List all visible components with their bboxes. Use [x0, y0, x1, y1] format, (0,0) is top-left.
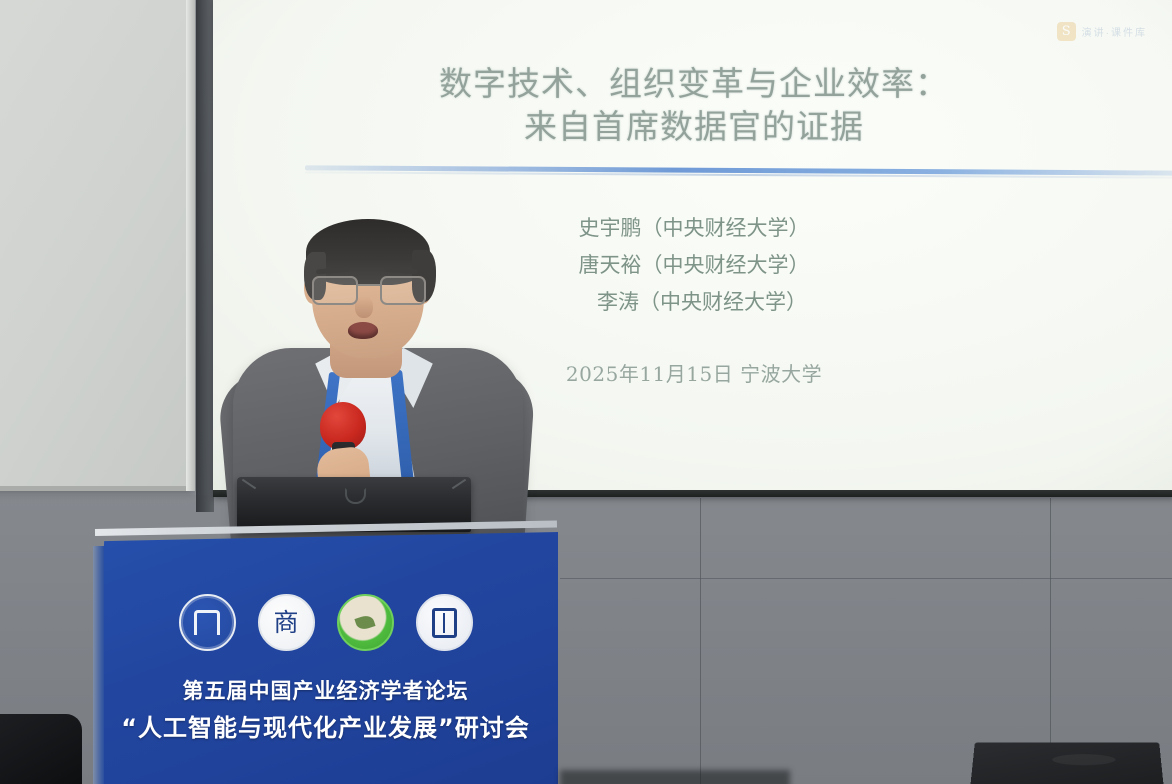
leaf-shape	[354, 614, 375, 632]
screen-left-shadow	[196, 0, 214, 512]
watermark-label: 演讲·课件库	[1082, 24, 1147, 39]
wall-seam-horizontal	[560, 578, 1172, 579]
podium-forum-title: 第五届中国产业经济学者论坛	[93, 674, 558, 708]
business-school-logo-icon: 商	[258, 594, 315, 651]
laptop-corner-right	[452, 479, 466, 490]
whiteboard	[0, 0, 190, 491]
foreground-shadow-bottom	[560, 770, 790, 784]
foreground-dark-object-left	[0, 714, 82, 784]
green-institute-logo-icon	[337, 594, 394, 651]
podium-logo-row: 商	[93, 594, 558, 651]
podium-banner: 商 第五届中国产业经济学者论坛 “人工智能与现代化产业发展”研讨会	[93, 532, 558, 784]
ningbo-university-logo-icon	[179, 594, 236, 651]
slide-watermark: S 演讲·课件库	[1057, 22, 1147, 41]
slide-title-line-1: 数字技术、组织变革与企业效率：	[213, 62, 1172, 105]
wall-seam-vertical-1	[700, 498, 701, 784]
presentation-photo-scene: S 演讲·课件库 数字技术、组织变革与企业效率： 来自首席数据官的证据 史宇鹏（…	[0, 0, 1172, 784]
slide-title-line-2: 来自首席数据官的证据	[213, 105, 1172, 148]
book-shape	[432, 608, 457, 638]
laptop-corner-left	[242, 479, 256, 490]
whiteboard-frame-edge	[186, 0, 195, 491]
slide-title: 数字技术、组织变革与企业效率： 来自首席数据官的证据	[213, 62, 1172, 148]
glasses-lens-left	[312, 276, 358, 305]
laptop-hinge	[345, 488, 366, 504]
foreground-table-right	[969, 742, 1165, 784]
gate-shape	[194, 610, 220, 635]
podium-seminar-title: “人工智能与现代化产业发展”研讨会	[93, 708, 558, 748]
speaker-nose	[355, 296, 373, 318]
podium-text-block: 第五届中国产业经济学者论坛 “人工智能与现代化产业发展”研讨会	[93, 674, 558, 748]
podium-left-side	[93, 546, 104, 784]
blue-institute-logo-icon	[416, 594, 473, 651]
wall-seam-vertical-2	[1050, 498, 1051, 784]
glasses-bridge	[356, 284, 380, 286]
business-school-glyph: 商	[273, 610, 298, 635]
watermark-badge-icon: S	[1057, 22, 1076, 41]
glasses-lens-right	[380, 276, 426, 305]
speaker-mouth	[348, 322, 378, 339]
